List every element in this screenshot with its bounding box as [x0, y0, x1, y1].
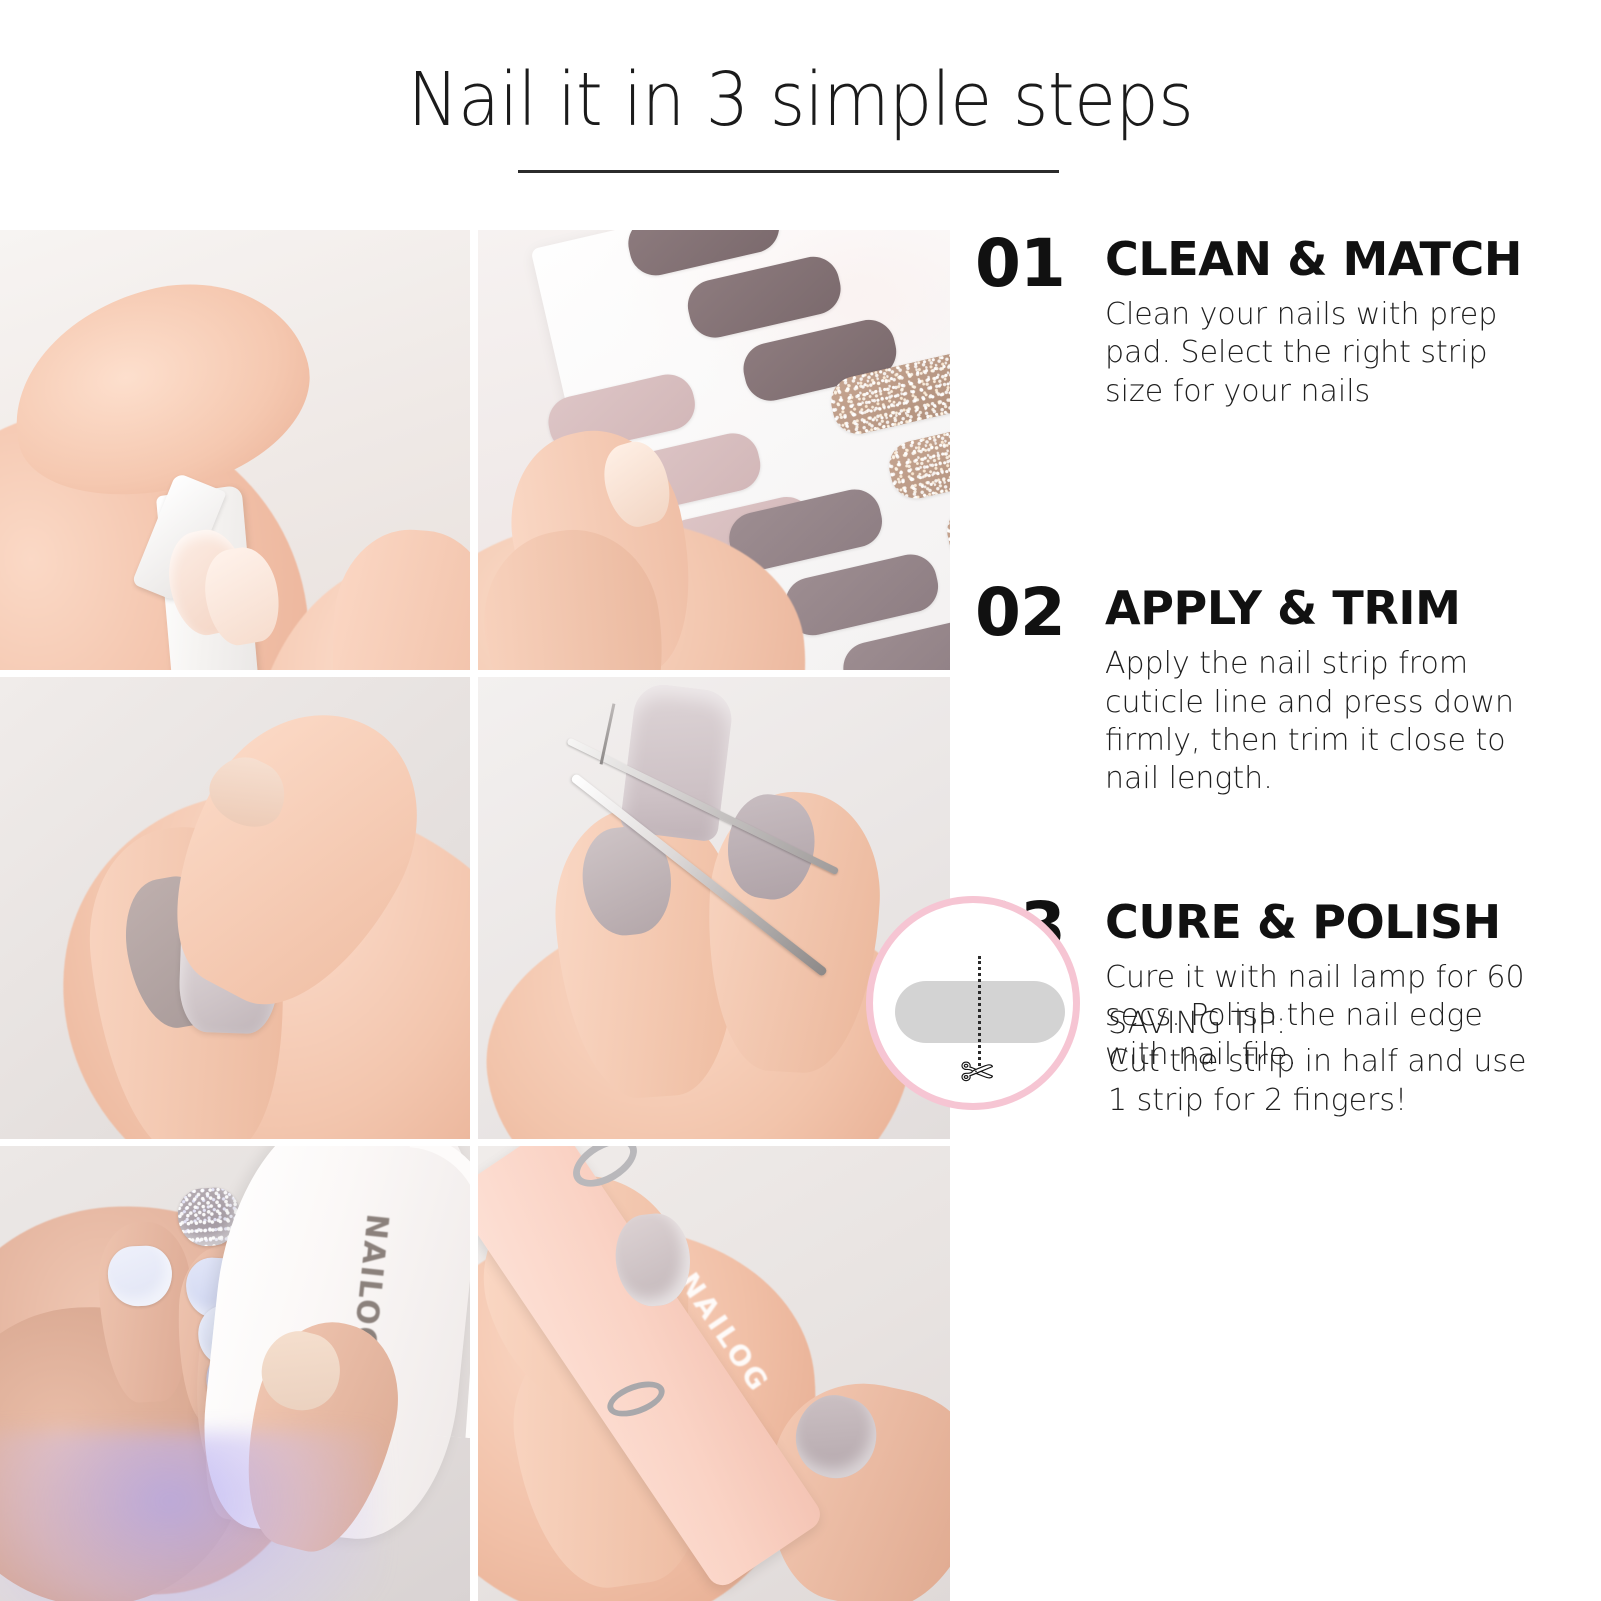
diagram-cut-line [978, 956, 981, 1066]
step-heading: CLEAN & MATCH [1105, 236, 1601, 282]
saving-tip-line-1: Cut the strip in half and use [1108, 1043, 1528, 1081]
excess-nail-strip [619, 682, 735, 843]
saving-tip-line-2: 1 strip for 2 fingers! [1108, 1082, 1528, 1120]
step-content: APPLY & TRIM Apply the nail strip from c… [1105, 583, 1601, 799]
photo-nail-file: NAILOG [478, 1146, 950, 1601]
header: Nail it in 3 simple steps [0, 62, 1601, 140]
photo-prep-pad [0, 230, 470, 670]
step-item-02: 02 APPLY & TRIM Apply the nail strip fro… [975, 583, 1601, 799]
step-description: Apply the nail strip from cuticle line a… [1105, 645, 1525, 799]
photo-trim-strip [478, 677, 950, 1139]
nail-strip-taupe [780, 549, 943, 640]
step-description: Clean your nails with prep pad. Select t… [1105, 296, 1525, 411]
photo-strip-sheet [478, 230, 950, 670]
steps-column: 01 CLEAN & MATCH Clean your nails with p… [975, 230, 1601, 1074]
step-item-01: 01 CLEAN & MATCH Clean your nails with p… [975, 234, 1601, 411]
page-title: Nail it in 3 simple steps [64, 62, 1537, 140]
finger-right [320, 525, 470, 670]
nail-strip-glitter [884, 413, 950, 503]
scissors-icon: ✄ [960, 1053, 994, 1093]
saving-tip-diagram-circle: ✄ [866, 896, 1080, 1110]
step-number: 02 [975, 583, 1105, 644]
photo-uv-lamp: NAILOG [0, 1146, 470, 1601]
saving-tip-text: SAVING TIP: Cut the strip in half and us… [1108, 1005, 1528, 1120]
title-underline-divider [518, 170, 1059, 173]
step-heading: CURE & POLISH [1105, 899, 1601, 945]
infographic-page: Nail it in 3 simple steps [0, 0, 1601, 1601]
photo-grid: NAILOG NAILOG [0, 230, 950, 1601]
uv-light-glow [0, 1432, 380, 1601]
step-heading: APPLY & TRIM [1105, 585, 1601, 631]
saving-tip-label: SAVING TIP: [1108, 1005, 1528, 1043]
step-number: 01 [975, 234, 1105, 295]
step-content: CLEAN & MATCH Clean your nails with prep… [1105, 234, 1601, 411]
photo-apply-strip [0, 677, 470, 1139]
